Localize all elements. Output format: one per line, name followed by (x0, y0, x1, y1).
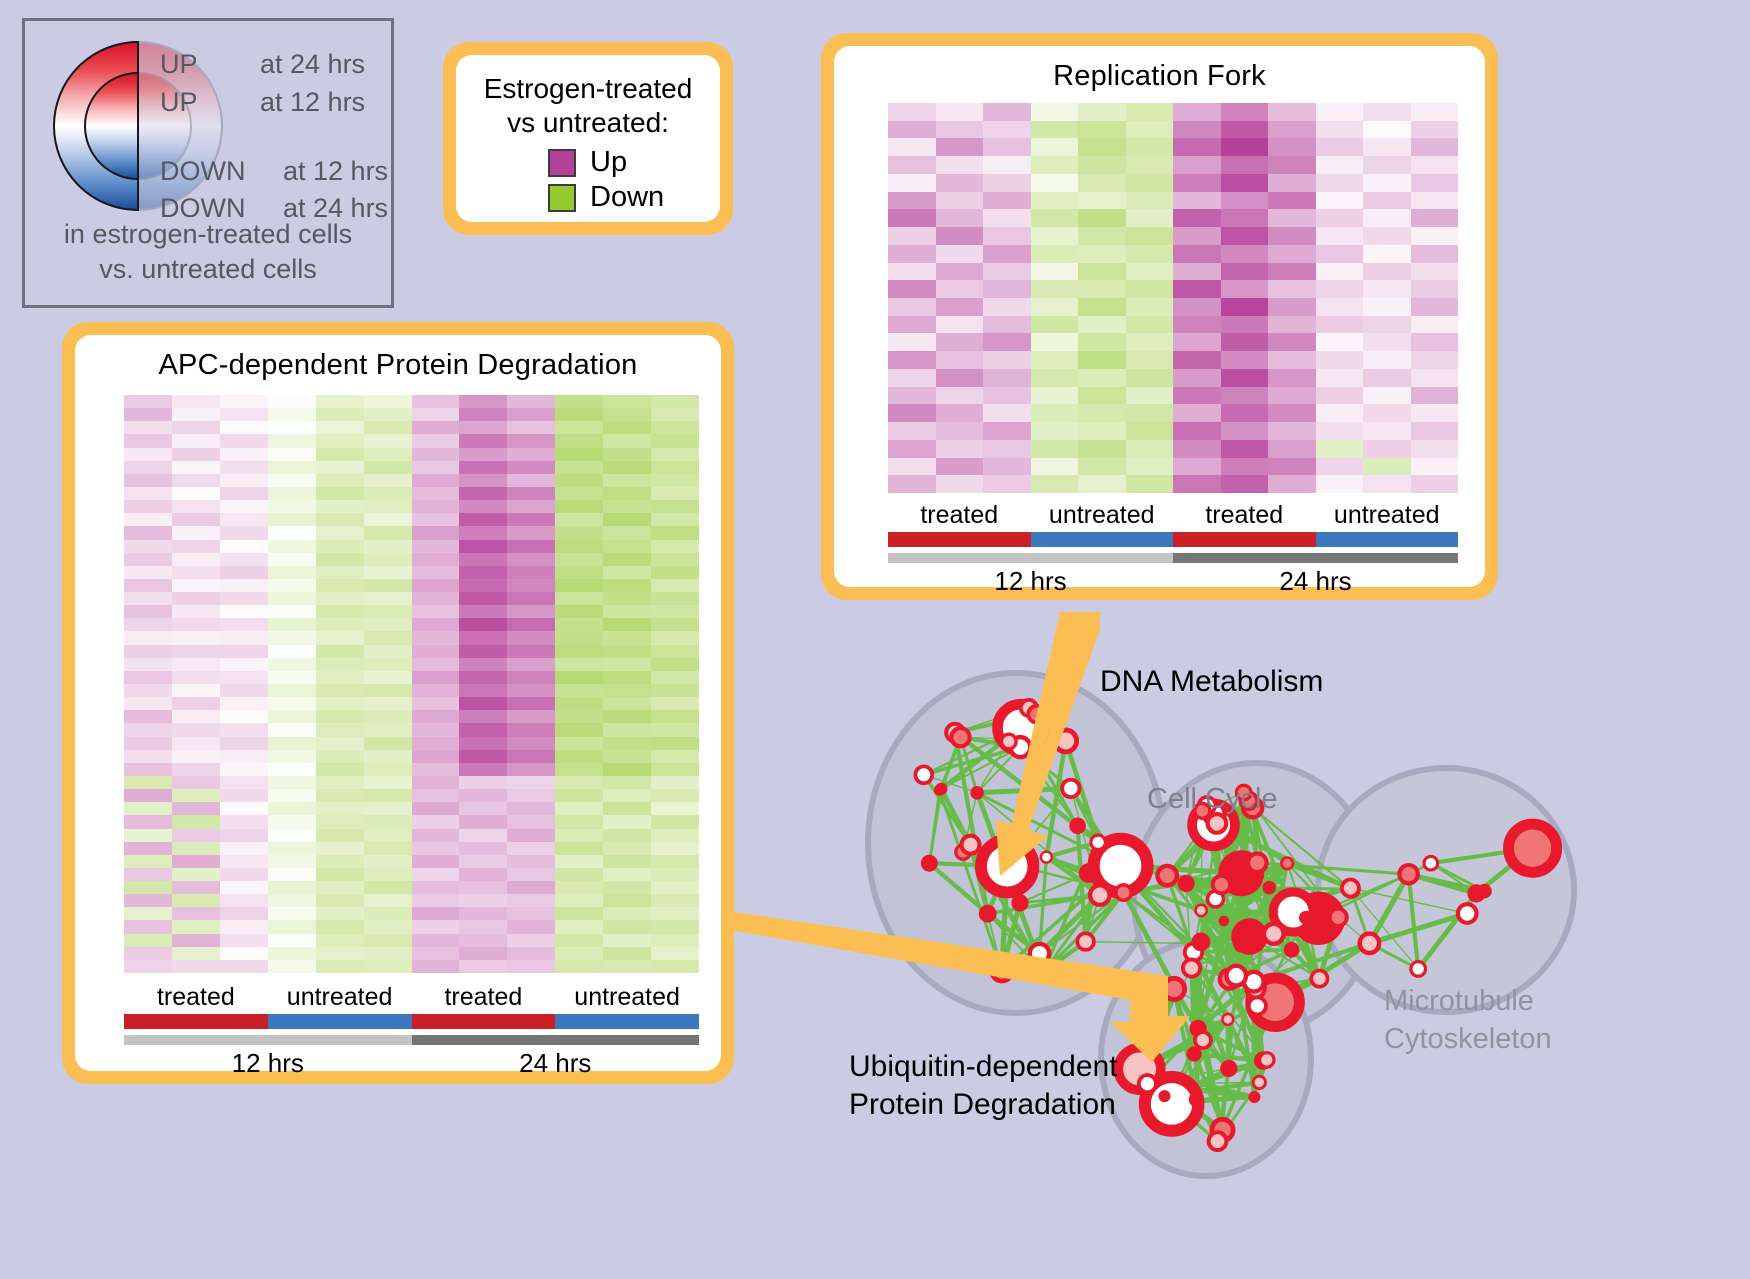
heatmap-cell (651, 684, 699, 697)
heatmap-cell (316, 408, 364, 421)
heatmap-cell (603, 526, 651, 539)
heatmap-cell (1363, 475, 1411, 493)
heatmap-cell (507, 881, 555, 894)
heatmap-cell (603, 592, 651, 605)
network-node[interactable] (981, 840, 1033, 892)
heatmap-cell (412, 566, 460, 579)
network-node[interactable] (1189, 1092, 1204, 1107)
heatmap-cell (651, 474, 699, 487)
heatmap-cell (364, 487, 412, 500)
heatmap-cell (124, 540, 172, 553)
heatmap-cell (412, 815, 460, 828)
heatmap-cell (316, 566, 364, 579)
heatmap-cell (1363, 422, 1411, 440)
heatmap-cell (220, 737, 268, 750)
heatmap-cell (507, 947, 555, 960)
network-node[interactable] (1467, 884, 1485, 902)
heatmap-cell (220, 513, 268, 526)
heatmap-cell (364, 855, 412, 868)
heatmap-cell (124, 842, 172, 855)
heatmap-cell (124, 750, 172, 763)
heatmap-cell (412, 631, 460, 644)
heatmap-cell (459, 815, 507, 828)
heatmap-cell (555, 658, 603, 671)
heatmap-cell (603, 645, 651, 658)
heatmap-cell (364, 395, 412, 408)
network-node[interactable] (1041, 852, 1052, 863)
heatmap-cell (459, 737, 507, 750)
heatmap-cell (555, 815, 603, 828)
heatmap-cell (220, 684, 268, 697)
heatmap-cell (555, 461, 603, 474)
heatmap-cell (651, 421, 699, 434)
heatmap-cell (555, 710, 603, 723)
heatmap-cell (268, 710, 316, 723)
heatmap-cell (268, 842, 316, 855)
axis-group-swatch-3 (555, 1014, 699, 1029)
network-node[interactable] (1079, 863, 1099, 883)
network-node[interactable] (1164, 978, 1185, 999)
heatmap-cell (888, 422, 936, 440)
heatmap-cell (459, 540, 507, 553)
heatmap-cell (983, 333, 1031, 351)
heatmap-cell (459, 684, 507, 697)
heatmap-cell (651, 645, 699, 658)
network-node[interactable] (1311, 971, 1327, 987)
heatmap-cell (220, 448, 268, 461)
heatmap-cell (412, 934, 460, 947)
heatmap-cell (459, 710, 507, 723)
heatmap-cell (364, 934, 412, 947)
heatmap-cell (1411, 280, 1459, 298)
heatmap-cell (1031, 333, 1079, 351)
axis-time-swatch-0 (888, 553, 1173, 563)
heatmap-cell (364, 842, 412, 855)
pathway-network-graph[interactable] (806, 628, 1750, 1279)
heatmap-cell (220, 618, 268, 631)
heatmap-cell (507, 645, 555, 658)
network-node[interactable] (970, 786, 984, 800)
network-node[interactable] (1220, 1060, 1237, 1077)
heatmap-cell (172, 960, 220, 973)
network-node[interactable] (1002, 734, 1017, 749)
heatmap-cell (459, 789, 507, 802)
heatmap-cell (172, 934, 220, 947)
heatmap-cell (316, 579, 364, 592)
heatmap-cell (316, 395, 364, 408)
network-node[interactable] (1260, 1053, 1274, 1067)
network-node[interactable] (1360, 934, 1379, 953)
heatmap-cell (172, 553, 220, 566)
heatmap-cell (1316, 316, 1364, 334)
network-node[interactable] (1253, 1076, 1265, 1088)
heatmap-cell (603, 618, 651, 631)
heatmap-cell (555, 894, 603, 907)
cluster-label-ubiquitin-line2: Protein Degradation (849, 1086, 1118, 1124)
heatmap-cell (364, 684, 412, 697)
heatmap-cell (1126, 103, 1174, 121)
heatmap-cell (1173, 387, 1221, 405)
network-node[interactable] (1284, 942, 1300, 958)
heatmap-cell (1126, 280, 1174, 298)
heatmap-cell (936, 263, 984, 281)
heatmap-cell (172, 618, 220, 631)
heatmap-cell (412, 421, 460, 434)
network-node[interactable] (1411, 962, 1426, 977)
heatmap-cell (459, 894, 507, 907)
heatmap-cell (459, 658, 507, 671)
heatmap-cell (268, 815, 316, 828)
heatmap-cell (1268, 475, 1316, 493)
heatmap-cell (268, 934, 316, 947)
network-node[interactable] (935, 783, 947, 795)
heatmap-cell (172, 579, 220, 592)
network-node[interactable] (1159, 1090, 1171, 1102)
heatmap-cell (1078, 209, 1126, 227)
heatmap-cell (1268, 369, 1316, 387)
heatmap-cell (1316, 138, 1364, 156)
heatmap-cell (555, 421, 603, 434)
heatmap-cell (364, 737, 412, 750)
heatmap-cell (507, 408, 555, 421)
network-node[interactable] (1196, 905, 1207, 916)
heatmap-cell (220, 920, 268, 933)
heatmap-cell (1411, 245, 1459, 263)
heatmap-cell (412, 500, 460, 513)
heatmap-cell (316, 487, 364, 500)
heatmap-cell (268, 684, 316, 697)
heatmap-cell (1031, 245, 1079, 263)
network-node[interactable] (1263, 881, 1277, 895)
heatmap-cell (364, 789, 412, 802)
heatmap-cell (1126, 138, 1174, 156)
heatmap-cell (268, 579, 316, 592)
heatmap-cell (507, 697, 555, 710)
heatmap-cell (172, 750, 220, 763)
heatmap-cell (555, 842, 603, 855)
heatmap-cell (1126, 387, 1174, 405)
heatmap-cell (888, 280, 936, 298)
heatmap-cell (316, 618, 364, 631)
heatmap-cell (220, 881, 268, 894)
heatmap-cell (268, 763, 316, 776)
heatmap-cell (1411, 369, 1459, 387)
heatmap-cell (124, 802, 172, 815)
heatmap-cell (1363, 351, 1411, 369)
key-time-2: at 12 hrs (283, 156, 388, 187)
heatmap-cell (507, 395, 555, 408)
network-node[interactable] (1424, 856, 1438, 870)
heatmap-cell (555, 553, 603, 566)
heatmap-cell (1221, 209, 1269, 227)
replication-fork-heatmap (888, 103, 1458, 493)
heatmap-cell (268, 658, 316, 671)
heatmap-cell (412, 789, 460, 802)
network-node[interactable] (1090, 885, 1109, 904)
heatmap-cell (172, 421, 220, 434)
heatmap-cell (507, 723, 555, 736)
heatmap-cell (603, 934, 651, 947)
heatmap-cell (220, 947, 268, 960)
network-node[interactable] (1011, 894, 1028, 911)
network-node[interactable] (1222, 1014, 1233, 1025)
heatmap-cell (651, 907, 699, 920)
heatmap-cell (1078, 245, 1126, 263)
heatmap-cell (507, 894, 555, 907)
heatmap-cell (316, 710, 364, 723)
network-node[interactable] (962, 836, 980, 854)
heatmap-cell (412, 855, 460, 868)
network-node[interactable] (1062, 780, 1079, 797)
heatmap-cell (1221, 245, 1269, 263)
heatmap-cell (507, 855, 555, 868)
heatmap-cell (1126, 156, 1174, 174)
heatmap-cell (555, 881, 603, 894)
heatmap-cell (364, 408, 412, 421)
heatmap-cell (603, 474, 651, 487)
heatmap-cell (555, 960, 603, 973)
heatmap-cell (888, 227, 936, 245)
network-node[interactable] (992, 961, 1012, 981)
heatmap-cell (555, 802, 603, 815)
heatmap-cell (172, 671, 220, 684)
heatmap-cell (124, 855, 172, 868)
heatmap-cell (412, 829, 460, 842)
heatmap-cell (507, 737, 555, 750)
heatmap-cell (555, 618, 603, 631)
heatmap-cell (364, 776, 412, 789)
heatmap-cell (1126, 475, 1174, 493)
network-node[interactable] (1509, 824, 1557, 872)
heatmap-cell (459, 697, 507, 710)
heatmap-cell (936, 121, 984, 139)
heatmap-cell (555, 526, 603, 539)
axis-time-labels: 12 hrs24 hrs (888, 566, 1458, 597)
heatmap-cell (1316, 209, 1364, 227)
heatmap-cell (172, 776, 220, 789)
heatmap-cell (316, 448, 364, 461)
heatmap-cell (1221, 440, 1269, 458)
heatmap-cell (268, 750, 316, 763)
heatmap-cell (459, 829, 507, 842)
heatmap-cell (555, 408, 603, 421)
heatmap-cell (1078, 387, 1126, 405)
heatmap-cell (555, 540, 603, 553)
heatmap-cell (651, 540, 699, 553)
heatmap-cell (220, 763, 268, 776)
heatmap-cell (603, 710, 651, 723)
heatmap-cell (316, 750, 364, 763)
heatmap-cell (316, 907, 364, 920)
network-node[interactable] (1249, 997, 1266, 1014)
heatmap-cell (603, 566, 651, 579)
heatmap-cell (124, 789, 172, 802)
heatmap-cell (268, 618, 316, 631)
heatmap-cell (1031, 404, 1079, 422)
heatmap-cell (1173, 422, 1221, 440)
heatmap-cell (124, 671, 172, 684)
axis-group-names: treateduntreatedtreateduntreated (888, 501, 1458, 530)
network-node[interactable] (1178, 875, 1195, 892)
network-node[interactable] (1055, 730, 1077, 752)
heatmap-cell (888, 103, 936, 121)
network-node[interactable] (915, 766, 932, 783)
heatmap-cell (555, 645, 603, 658)
heatmap-cell (1126, 245, 1174, 263)
heatmap-cell (412, 776, 460, 789)
heatmap-cell (1126, 227, 1174, 245)
network-node[interactable] (1248, 1091, 1260, 1103)
heatmap-cell (1221, 103, 1269, 121)
heatmap-cell (268, 868, 316, 881)
heatmap-cell (1173, 245, 1221, 263)
network-node[interactable] (1034, 963, 1052, 981)
network-node[interactable] (1281, 858, 1293, 870)
heatmap-cell (172, 448, 220, 461)
heatmap-cell (172, 605, 220, 618)
network-node[interactable] (1195, 1032, 1211, 1048)
network-node[interactable] (1208, 814, 1227, 833)
network-node[interactable] (1091, 835, 1105, 849)
heatmap-cell (603, 671, 651, 684)
heatmap-cell (888, 245, 936, 263)
heatmap-cell (124, 737, 172, 750)
network-node[interactable] (1330, 909, 1347, 926)
network-node[interactable] (1264, 924, 1284, 944)
heatmap-cell (316, 881, 364, 894)
heatmap-cell (459, 671, 507, 684)
network-node[interactable] (1226, 966, 1246, 986)
heatmap-cell (651, 829, 699, 842)
heatmap-cell (983, 316, 1031, 334)
heatmap-cell (412, 474, 460, 487)
network-node[interactable] (1458, 904, 1477, 923)
heatmap-cell (651, 802, 699, 815)
heatmap-cell (1031, 103, 1079, 121)
heatmap-cell (1078, 440, 1126, 458)
heatmap-cell (459, 645, 507, 658)
heatmap-cell (172, 842, 220, 855)
heatmap-cell (124, 526, 172, 539)
heatmap-cell (1221, 316, 1269, 334)
heatmap-cell (1173, 156, 1221, 174)
heatmap-cell (651, 461, 699, 474)
heatmap-cell (220, 894, 268, 907)
heatmap-cell (459, 579, 507, 592)
network-node[interactable] (1077, 933, 1094, 950)
heatmap-cell (124, 894, 172, 907)
heatmap-cell (1363, 156, 1411, 174)
heatmap-cell (1173, 263, 1221, 281)
heatmap-cell (220, 487, 268, 500)
heatmap-cell (1078, 156, 1126, 174)
heatmap-cell (1173, 227, 1221, 245)
heatmap-cell (220, 500, 268, 513)
cluster-label-microtubule-line2: Cytoskeleton (1384, 1021, 1552, 1059)
heatmap-cell (1221, 121, 1269, 139)
network-node[interactable] (1183, 960, 1200, 977)
heatmap-cell (555, 592, 603, 605)
heatmap-cell (651, 763, 699, 776)
heatmap-cell (936, 333, 984, 351)
heatmap-cell (1078, 369, 1126, 387)
heatmap-cell (1268, 227, 1316, 245)
network-node[interactable] (1209, 1132, 1227, 1150)
heatmap-cell (220, 960, 268, 973)
heatmap-cell (220, 907, 268, 920)
heatmap-cell (1031, 298, 1079, 316)
heatmap-cell (1173, 209, 1221, 227)
network-node[interactable] (1116, 885, 1131, 900)
network-node[interactable] (1192, 933, 1211, 952)
heatmap-cell (651, 894, 699, 907)
heatmap-cell (555, 789, 603, 802)
heatmap-cell (1221, 156, 1269, 174)
heatmap-cell (220, 855, 268, 868)
heatmap-cell (459, 592, 507, 605)
heatmap-cell (316, 842, 364, 855)
heatmap-cell (172, 829, 220, 842)
heatmap-cell (888, 369, 936, 387)
heatmap-cell (124, 605, 172, 618)
network-node[interactable] (979, 905, 997, 923)
heatmap-cell (459, 907, 507, 920)
network-node[interactable] (1399, 865, 1417, 883)
heatmap-cell (316, 553, 364, 566)
heatmap-cell (1078, 174, 1126, 192)
network-node[interactable] (1213, 876, 1230, 893)
heatmap-cell (507, 513, 555, 526)
heatmap-cell (220, 789, 268, 802)
heatmap-cell (220, 421, 268, 434)
legend-label-down: Down (590, 181, 664, 214)
heatmap-cell (268, 776, 316, 789)
network-node[interactable] (921, 855, 938, 872)
network-node[interactable] (1030, 944, 1049, 963)
network-node[interactable] (1028, 706, 1045, 723)
network-node[interactable] (1233, 936, 1250, 953)
heatmap-cell (507, 474, 555, 487)
network-node[interactable] (1219, 916, 1230, 927)
network-node[interactable] (1299, 911, 1313, 925)
heatmap-cell (459, 868, 507, 881)
heatmap-cell (364, 960, 412, 973)
heatmap-cell (1078, 422, 1126, 440)
heatmap-cell (651, 868, 699, 881)
heatmap-cell (1411, 475, 1459, 493)
heatmap-cell (651, 526, 699, 539)
heatmap-cell (983, 227, 1031, 245)
network-node[interactable] (1342, 880, 1359, 897)
network-node[interactable] (1069, 818, 1086, 835)
heatmap-cell (1221, 263, 1269, 281)
heatmap-cell (1173, 369, 1221, 387)
cluster-label-ubiquitin-line1: Ubiquitin-dependent (849, 1048, 1118, 1086)
heatmap-cell (316, 737, 364, 750)
network-node[interactable] (951, 728, 969, 746)
heatmap-cell (412, 947, 460, 960)
heatmap-cell (412, 842, 460, 855)
network-node[interactable] (1158, 866, 1177, 885)
heatmap-cell (1363, 316, 1411, 334)
heatmap-cell (1173, 103, 1221, 121)
network-node[interactable] (1139, 1075, 1156, 1092)
network-node[interactable] (1248, 854, 1267, 873)
heatmap-cell (555, 697, 603, 710)
heatmap-cell (603, 605, 651, 618)
heatmap-cell (412, 684, 460, 697)
heatmap-cell (268, 448, 316, 461)
